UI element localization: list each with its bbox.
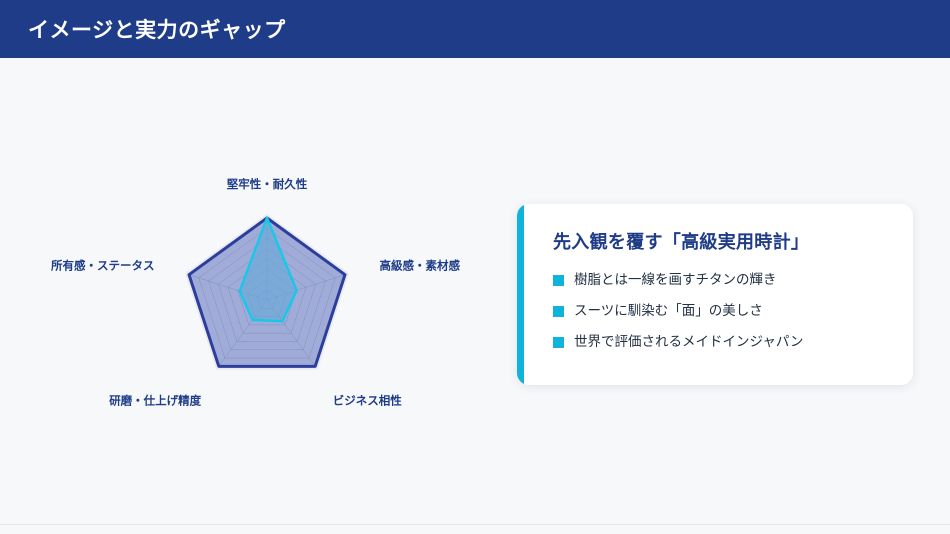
slide-root: イメージと実力のギャップ 堅牢性・耐久性高級感・素材感ビジネス相性研磨・仕上げ精… (0, 0, 950, 534)
card-content: 先入観を覆す「高級実用時計」 樹脂とは一線を画すチタンの輝き スーツに馴染む「面… (553, 228, 895, 366)
list-item: スーツに馴染む「面」の美しさ (553, 303, 895, 319)
radar-axis-label: 所有感・ステータス (51, 258, 155, 272)
square-bullet-icon (553, 306, 564, 317)
list-item: 樹脂とは一線を画すチタンの輝き (553, 272, 895, 288)
radar-chart: 堅牢性・耐久性高級感・素材感ビジネス相性研磨・仕上げ精度所有感・ステータス (18, 160, 518, 410)
radar-axis-label: 堅牢性・耐久性 (227, 177, 308, 191)
footer-divider (0, 524, 950, 525)
radar-axis-label: 研磨・仕上げ精度 (109, 394, 201, 408)
square-bullet-icon (553, 337, 564, 348)
slide-header: イメージと実力のギャップ (0, 0, 950, 58)
radar-axis-label: ビジネス相性 (333, 394, 402, 408)
insight-card: 先入観を覆す「高級実用時計」 樹脂とは一線を画すチタンの輝き スーツに馴染む「面… (517, 204, 913, 385)
list-item-label: スーツに馴染む「面」の美しさ (574, 303, 763, 319)
square-bullet-icon (553, 275, 564, 286)
list-item-label: 世界で評価されるメイドインジャパン (574, 334, 804, 350)
page-title: イメージと実力のギャップ (28, 14, 286, 44)
card-accent-bar (517, 204, 524, 385)
card-title: 先入観を覆す「高級実用時計」 (553, 228, 895, 254)
radar-axis-label: 高級感・素材感 (380, 258, 461, 272)
list-item-label: 樹脂とは一線を画すチタンの輝き (574, 272, 777, 288)
list-item: 世界で評価されるメイドインジャパン (553, 334, 895, 350)
radar-chart-svg: 堅牢性・耐久性高級感・素材感ビジネス相性研磨・仕上げ精度所有感・ステータス (18, 160, 518, 410)
